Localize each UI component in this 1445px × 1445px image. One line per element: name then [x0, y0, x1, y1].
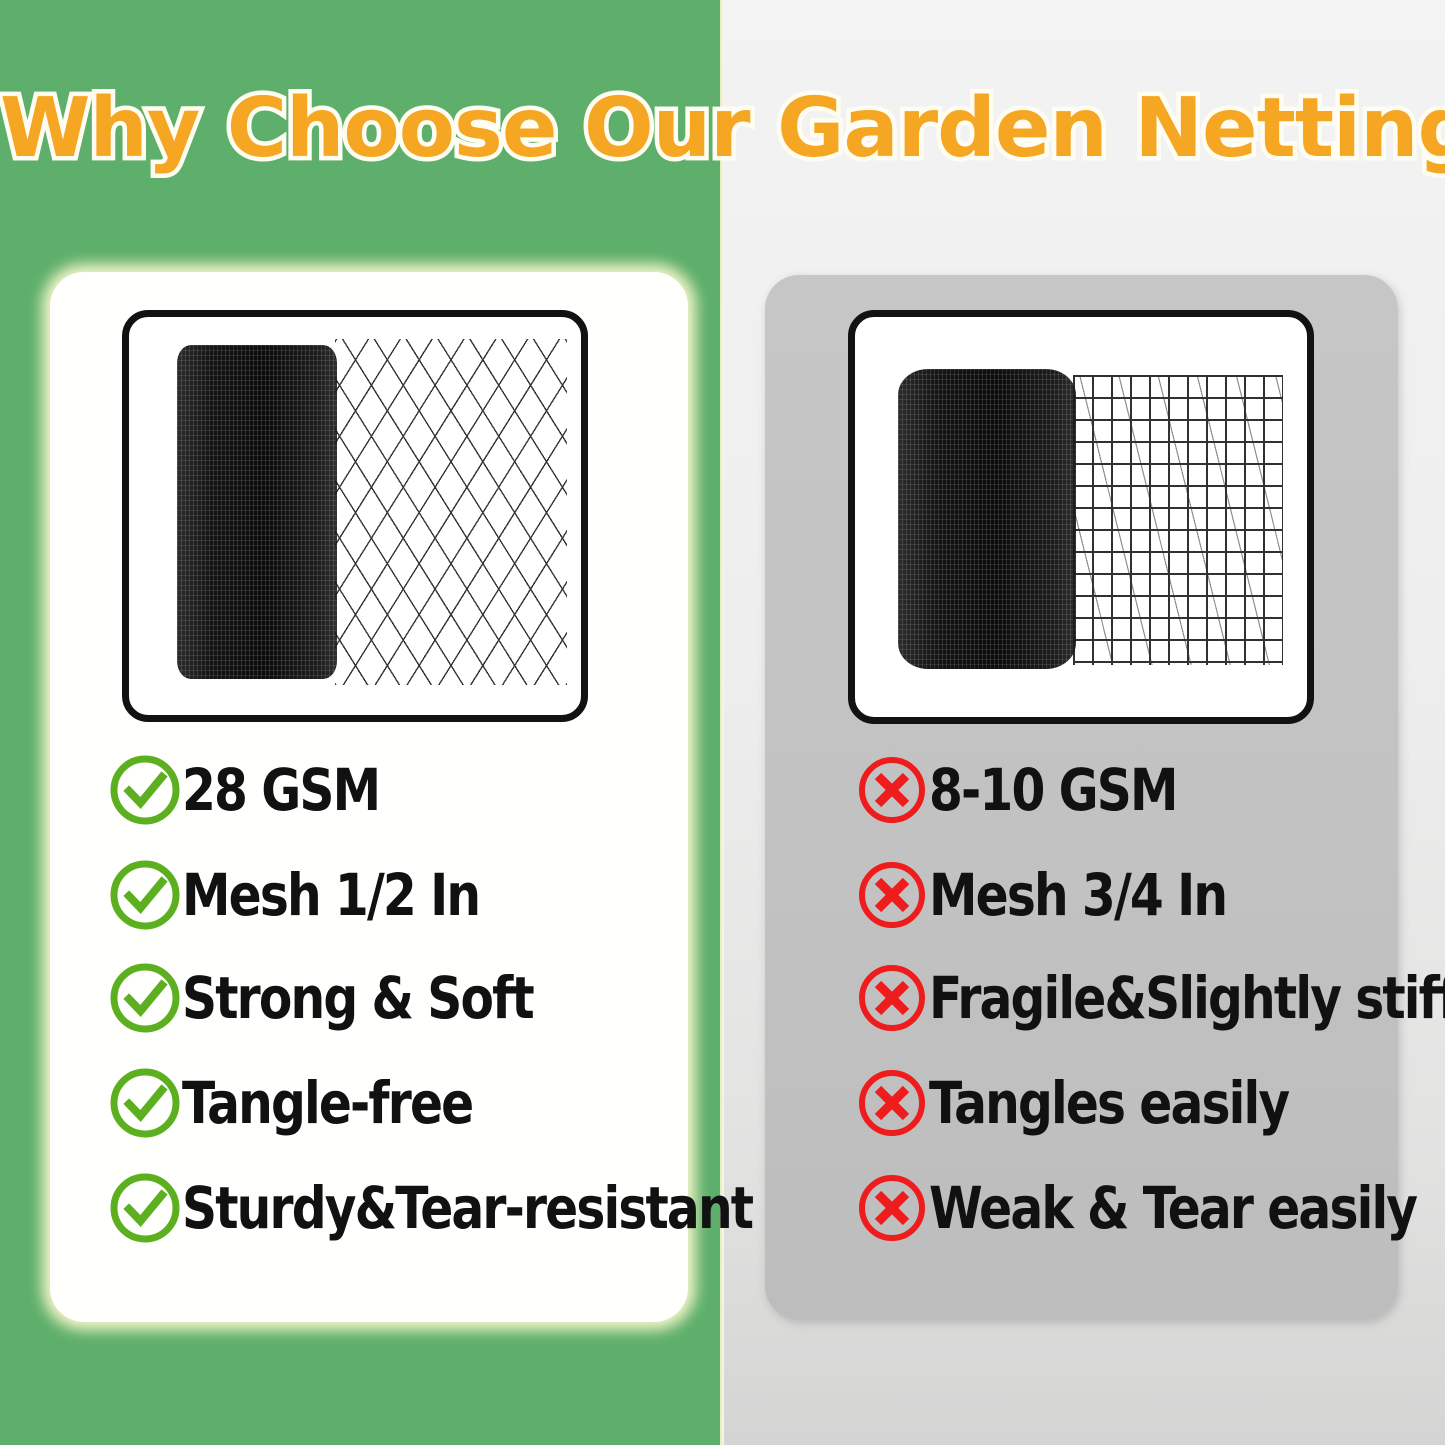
list-item: 8-10 GSM [855, 753, 1224, 827]
check-circle-icon [108, 1066, 182, 1140]
check-circle-icon [108, 1171, 182, 1245]
feature-label: Mesh 3/4 In [929, 866, 1226, 924]
feature-label: 8-10 GSM [929, 761, 1177, 819]
cross-circle-icon [855, 961, 929, 1035]
netting-roll-bad [898, 369, 1076, 669]
check-circle-icon [108, 753, 182, 827]
cross-circle-icon [855, 1066, 929, 1140]
feature-label: Weak & Tear easily [929, 1179, 1416, 1237]
feature-label: Tangle-free [182, 1074, 472, 1132]
check-circle-icon [108, 961, 182, 1035]
feature-label: Sturdy&Tear-resistant [182, 1179, 752, 1237]
feature-label: 28 GSM [182, 761, 379, 819]
list-item: Sturdy&Tear-resistant [108, 1171, 861, 1245]
list-item: Mesh 3/4 In [855, 858, 1283, 932]
page-title: Why Choose Our Garden Netting? [0, 86, 1445, 172]
feature-label: Strong & Soft [182, 969, 533, 1027]
cross-circle-icon [855, 858, 929, 932]
list-item: Strong & Soft [108, 961, 600, 1035]
check-circle-icon [108, 858, 182, 932]
feature-label: Fragile&Slightly stiff [929, 969, 1445, 1027]
coarse-square-mesh [1073, 375, 1283, 665]
good-product-photo [122, 310, 588, 722]
cross-circle-icon [855, 1171, 929, 1245]
comparison-infographic: Why Choose Our Garden Netting? 28 GSM [0, 0, 1445, 1445]
list-item: Fragile&Slightly stiff [855, 961, 1445, 1035]
list-item: Tangles easily [855, 1066, 1357, 1140]
netting-roll-good [177, 345, 337, 679]
feature-label: Tangles easily [929, 1074, 1288, 1132]
list-item: 28 GSM [108, 753, 417, 827]
bad-product-photo [848, 310, 1314, 724]
cross-circle-icon [855, 753, 929, 827]
list-item: Weak & Tear easily [855, 1171, 1445, 1245]
list-item: Tangle-free [108, 1066, 528, 1140]
feature-label: Mesh 1/2 In [182, 866, 479, 924]
list-item: Mesh 1/2 In [108, 858, 536, 932]
fine-diamond-mesh [335, 339, 567, 685]
